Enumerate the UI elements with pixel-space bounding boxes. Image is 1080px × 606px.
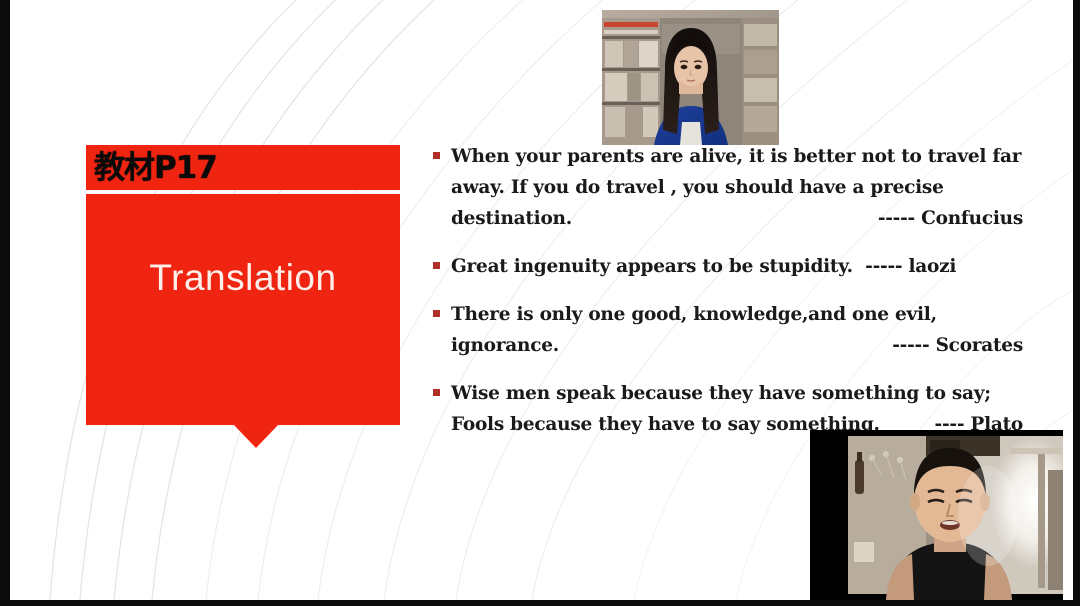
callout-body-panel — [86, 194, 400, 425]
quote-item: When your parents are alive, it is bette… — [423, 141, 1023, 234]
quote-line: ignorance.----- Scorates — [451, 330, 1023, 361]
callout-title: 教材P17 — [94, 147, 217, 189]
quote-line: When your parents are alive, it is bette… — [451, 141, 1023, 172]
quote-line: Wise men speak because they have somethi… — [451, 378, 1023, 409]
quote-line: Great ingenuity appears to be stupidity.… — [451, 251, 1023, 282]
screen-recording-frame: 教材P17 Translation When your parents are … — [0, 0, 1080, 606]
quote-item: Great ingenuity appears to be stupidity.… — [423, 251, 1023, 282]
quote-list: When your parents are alive, it is bette… — [423, 141, 1023, 457]
presenter-video-top[interactable] — [602, 10, 779, 145]
bullet-square-icon — [433, 152, 440, 159]
callout-label: Translation — [86, 257, 400, 299]
quote-attribution: ----- Scorates — [892, 330, 1023, 361]
bullet-square-icon — [433, 262, 440, 269]
quote-item: There is only one good, knowledge,and on… — [423, 299, 1023, 361]
participant-video-bottom[interactable] — [810, 430, 1063, 600]
bullet-square-icon — [433, 389, 440, 396]
callout-pointer-triangle — [233, 424, 279, 448]
quote-text: destination. — [451, 208, 572, 229]
translation-callout: 教材P17 Translation — [86, 145, 400, 425]
bullet-square-icon — [433, 310, 440, 317]
quote-text: ignorance. — [451, 335, 559, 356]
quote-attribution: ----- Confucius — [878, 203, 1023, 234]
participant-video-bottom-frame — [810, 430, 1063, 600]
quote-line: There is only one good, knowledge,and on… — [451, 299, 1023, 330]
quote-line: destination.----- Confucius — [451, 203, 1023, 234]
quote-line: away. If you do travel , you should have… — [451, 172, 1023, 203]
presenter-video-top-frame — [602, 10, 779, 145]
